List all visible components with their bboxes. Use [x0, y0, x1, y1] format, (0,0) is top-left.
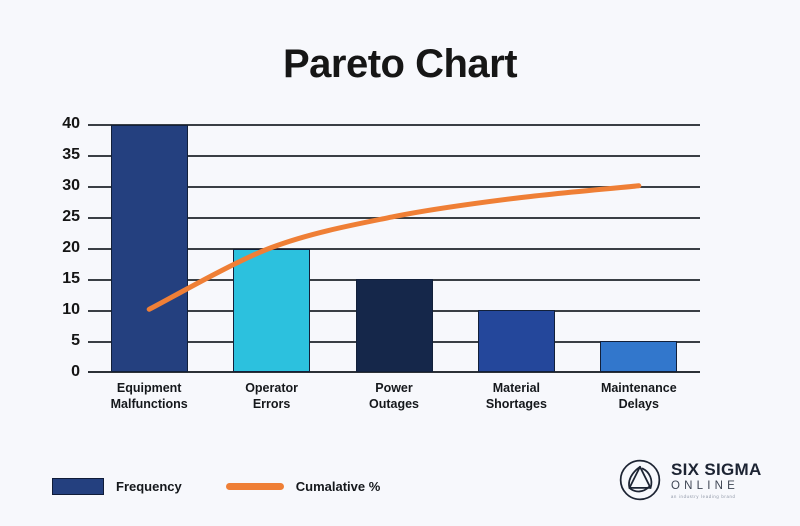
x-label-line1: Operator [245, 381, 298, 395]
y-tick-40: 40 [40, 115, 80, 133]
x-label-line1: Equipment [117, 381, 182, 395]
cumulative-line-series [88, 124, 700, 372]
six-sigma-emblem-icon [618, 458, 662, 502]
y-tick-5: 5 [40, 332, 80, 350]
plot-area [88, 124, 700, 372]
y-tick-35: 35 [40, 146, 80, 164]
legend-label-cumulative: Cumalative % [296, 479, 381, 494]
x-label-2: OperatorErrors [207, 380, 337, 412]
legend-swatch-bar-icon [52, 478, 104, 495]
logo-tagline: an industry leading brand [671, 493, 762, 500]
x-label-line2: Shortages [486, 397, 547, 411]
x-label-line2: Errors [253, 397, 291, 411]
legend-item-cumulative: Cumalative % [226, 479, 381, 494]
logo-subtitle: ONLINE [671, 479, 762, 493]
y-tick-30: 30 [40, 177, 80, 195]
page-title: Pareto Chart [0, 42, 800, 87]
y-tick-0: 0 [40, 363, 80, 381]
y-axis-tick-labels: 40 35 30 25 20 15 10 5 0 [40, 124, 80, 372]
x-label-line1: Maintenance [601, 381, 677, 395]
x-label-line2: Malfunctions [111, 397, 188, 411]
legend-item-frequency: Frequency [52, 478, 182, 495]
x-label-1: EquipmentMalfunctions [84, 380, 214, 412]
x-label-line2: Outages [369, 397, 419, 411]
legend-swatch-line-icon [226, 483, 284, 490]
logo-wordmark: SIX SIGMA ONLINE an industry leading bra… [671, 461, 762, 500]
six-sigma-online-logo: SIX SIGMA ONLINE an industry leading bra… [618, 458, 762, 502]
x-label-line2: Delays [619, 397, 659, 411]
logo-title: SIX SIGMA [671, 461, 762, 479]
y-tick-20: 20 [40, 239, 80, 257]
x-axis-category-labels: EquipmentMalfunctionsOperatorErrorsPower… [88, 380, 700, 424]
x-label-5: MaintenanceDelays [574, 380, 704, 412]
legend-label-frequency: Frequency [116, 479, 182, 494]
x-label-line1: Material [493, 381, 540, 395]
y-tick-15: 15 [40, 270, 80, 288]
y-tick-10: 10 [40, 301, 80, 319]
x-label-3: PowerOutages [329, 380, 459, 412]
x-label-4: MaterialShortages [451, 380, 581, 412]
legend: Frequency Cumalative % [52, 478, 380, 495]
x-label-line1: Power [375, 381, 413, 395]
y-tick-25: 25 [40, 208, 80, 226]
pareto-chart-page: Pareto Chart 40 35 30 25 20 15 10 5 0 Eq… [0, 0, 800, 526]
cumulative-line-path [149, 186, 639, 309]
